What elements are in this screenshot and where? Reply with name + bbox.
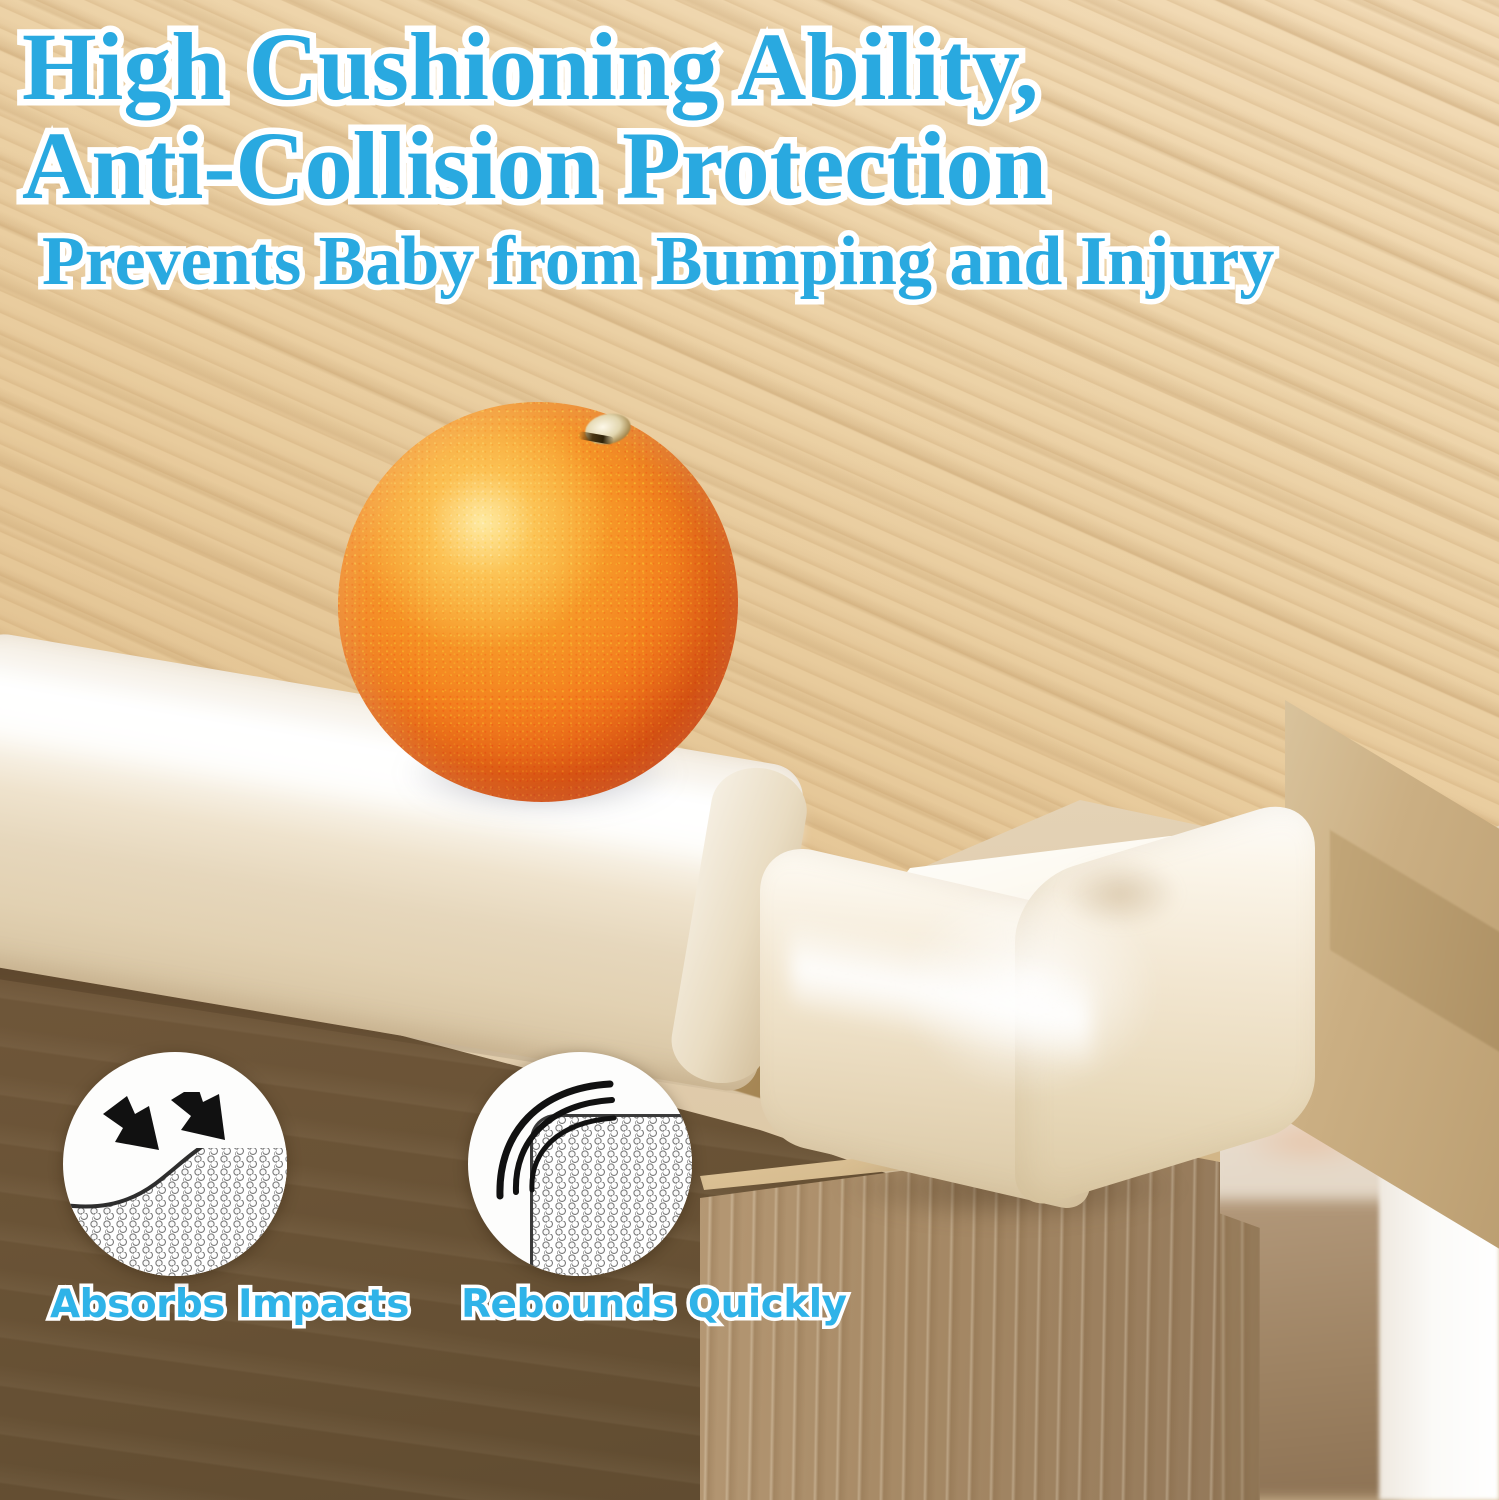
rebound-corner-foam-icon — [468, 1052, 692, 1276]
headline-line-1: High Cushioning Ability, — [22, 18, 1322, 117]
feature-badge-label: Rebounds Quickly — [455, 1282, 705, 1327]
product-marketing-image: High Cushioning Ability, Anti-Collision … — [0, 0, 1499, 1500]
corner-guard-notch-shadow — [1060, 858, 1180, 928]
orange-fruit — [330, 398, 750, 818]
feature-badge-label: Absorbs Impacts — [50, 1282, 300, 1327]
rebound-motion-arcs-icon — [492, 1074, 622, 1204]
impact-arrows-foam-icon — [63, 1052, 287, 1276]
feature-badge-absorbs-impacts: Absorbs Impacts — [50, 1052, 300, 1327]
feature-badge-rebounds-quickly: Rebounds Quickly — [455, 1052, 705, 1327]
foam-corner-guard — [760, 828, 1330, 1268]
subheadline: Prevents Baby from Bumping and Injury — [42, 226, 1322, 298]
headline-line-2: Anti-Collision Protection — [22, 117, 1322, 216]
orange-body — [338, 402, 738, 802]
headline-block: High Cushioning Ability, Anti-Collision … — [22, 18, 1322, 298]
down-arrows-icon — [97, 1092, 257, 1212]
orange-rim-light — [338, 402, 738, 802]
